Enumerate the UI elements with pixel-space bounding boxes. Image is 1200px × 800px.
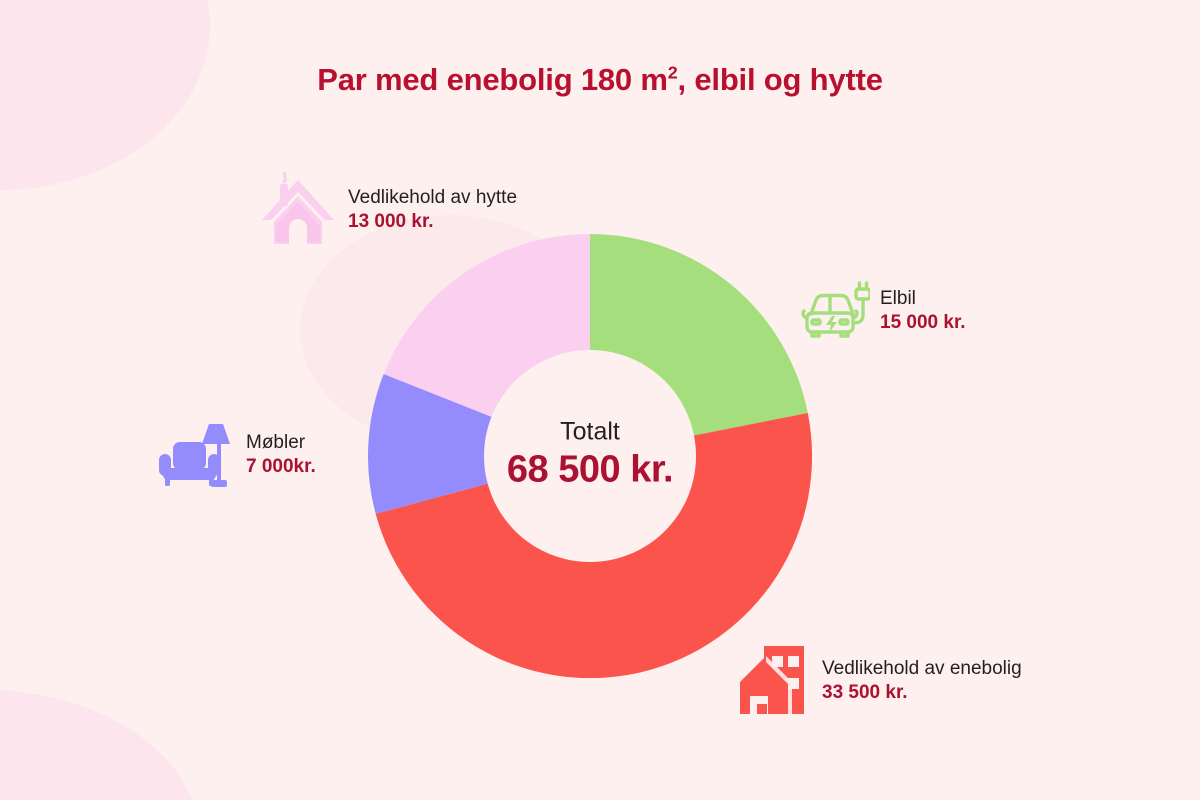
legend-amount: 7 000kr. (246, 455, 316, 479)
cabin-icon (258, 172, 338, 248)
decorative-blob-bottom-left (0, 690, 200, 800)
donut-hole (484, 350, 696, 562)
legend-item-vedlikehold-av-hytte[interactable]: Vedlikehold av hytte 13 000 kr. (258, 172, 517, 248)
legend-text-group: Møbler 7 000kr. (246, 431, 316, 480)
page-title-superscript: 2 (668, 63, 678, 83)
legend-label: Vedlikehold av enebolig (822, 657, 1022, 681)
legend-item-vedlikehold-av-enebolig[interactable]: Vedlikehold av enebolig 33 500 kr. (736, 644, 1022, 718)
legend-item-mobler[interactable]: Møbler 7 000kr. (156, 416, 316, 494)
electric-car-icon (798, 278, 870, 344)
donut-chart-svg (368, 234, 812, 678)
legend-text-group: Vedlikehold av enebolig 33 500 kr. (822, 657, 1022, 706)
legend-text-group: Elbil 15 000 kr. (880, 287, 966, 336)
legend-amount: 15 000 kr. (880, 311, 966, 335)
legend-label: Vedlikehold av hytte (348, 186, 517, 210)
legend-label: Elbil (880, 287, 966, 311)
legend-text-group: Vedlikehold av hytte 13 000 kr. (348, 186, 517, 235)
house-building-icon (736, 644, 812, 718)
page-title-suffix: , elbil og hytte (678, 62, 883, 97)
legend-label: Møbler (246, 431, 316, 455)
legend-amount: 33 500 kr. (822, 681, 1022, 705)
legend-item-elbil[interactable]: Elbil 15 000 kr. (798, 278, 966, 344)
infographic-canvas: Par med enebolig 180 m2, elbil og hytte … (0, 0, 1200, 800)
donut-chart: Totalt 68 500 kr. (368, 234, 812, 678)
page-title: Par med enebolig 180 m2, elbil og hytte (0, 62, 1200, 98)
sofa-lamp-icon (156, 416, 236, 494)
legend-amount: 13 000 kr. (348, 210, 517, 234)
page-title-text: Par med enebolig 180 m (317, 62, 668, 97)
